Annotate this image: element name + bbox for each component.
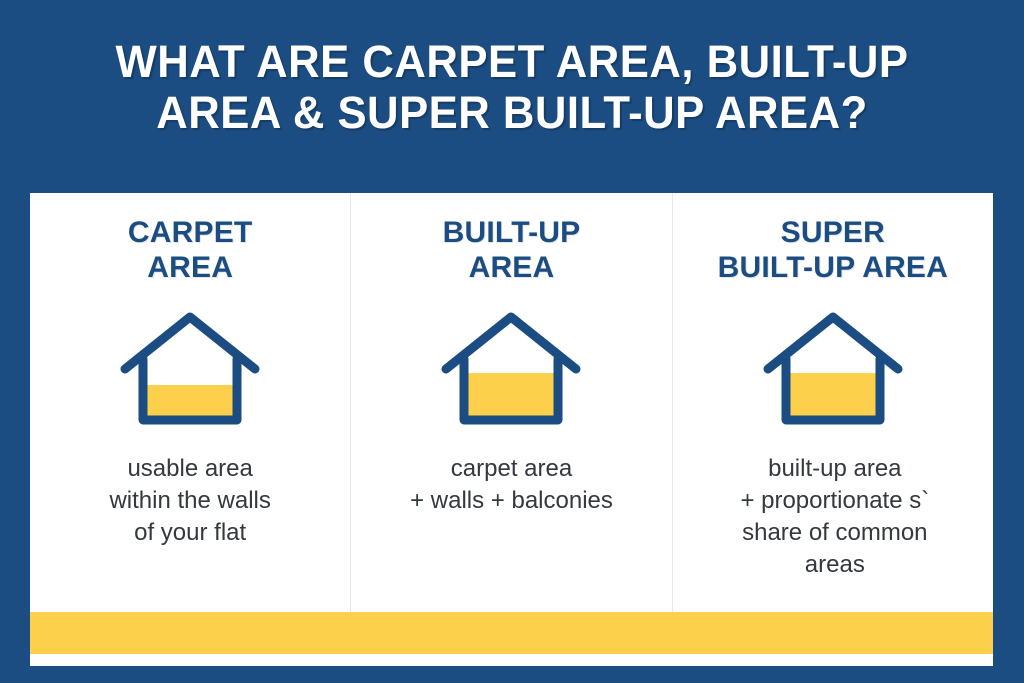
description-line: within the walls <box>109 485 270 517</box>
column-carpet-area: CARPET AREA usable area within t <box>30 193 350 624</box>
column-heading-line-2: BUILT-UP AREA <box>718 251 948 284</box>
column-description: carpet area + walls + balconies <box>410 453 613 517</box>
column-heading: SUPER BUILT-UP AREA <box>718 215 948 285</box>
description-line: + walls + balconies <box>410 485 613 517</box>
columns-container: CARPET AREA usable area within t <box>30 193 993 624</box>
column-heading-line-1: CARPET <box>128 216 253 249</box>
description-line: share of common <box>675 517 993 549</box>
column-heading-line-1: BUILT-UP <box>443 216 581 249</box>
house-fill-icon <box>758 307 908 429</box>
infographic-root: WHAT ARE CARPET AREA, BUILT-UP AREA & SU… <box>0 0 1024 683</box>
column-heading-line-2: AREA <box>469 251 555 284</box>
column-heading-line-1: SUPER <box>781 216 885 249</box>
description-line: built-up area <box>675 453 993 485</box>
column-description: usable area within the walls of your fla… <box>109 453 270 549</box>
house-fill-icon <box>115 307 265 429</box>
title-line-2: AREA & SUPER BUILT-UP AREA? <box>15 87 1008 138</box>
column-description: built-up area + proportionate s` share o… <box>675 453 993 581</box>
column-super-built-up-area: SUPER BUILT-UP AREA built-up area <box>672 193 993 624</box>
description-line: areas <box>675 549 993 581</box>
content-panel: CARPET AREA usable area within t <box>30 193 993 666</box>
description-line: usable area <box>109 453 270 485</box>
description-line: carpet area <box>410 453 613 485</box>
page-title: WHAT ARE CARPET AREA, BUILT-UP AREA & SU… <box>0 36 1024 138</box>
column-built-up-area: BUILT-UP AREA carpet area + wall <box>350 193 671 624</box>
description-line: of your flat <box>109 517 270 549</box>
house-fill-icon <box>436 307 586 429</box>
column-heading-line-2: AREA <box>147 251 233 284</box>
column-heading: CARPET AREA <box>128 215 253 285</box>
description-line: + proportionate s` <box>675 485 993 517</box>
title-line-1: WHAT ARE CARPET AREA, BUILT-UP <box>15 36 1008 87</box>
footer-accent-bar <box>30 612 993 654</box>
column-heading: BUILT-UP AREA <box>443 215 581 285</box>
